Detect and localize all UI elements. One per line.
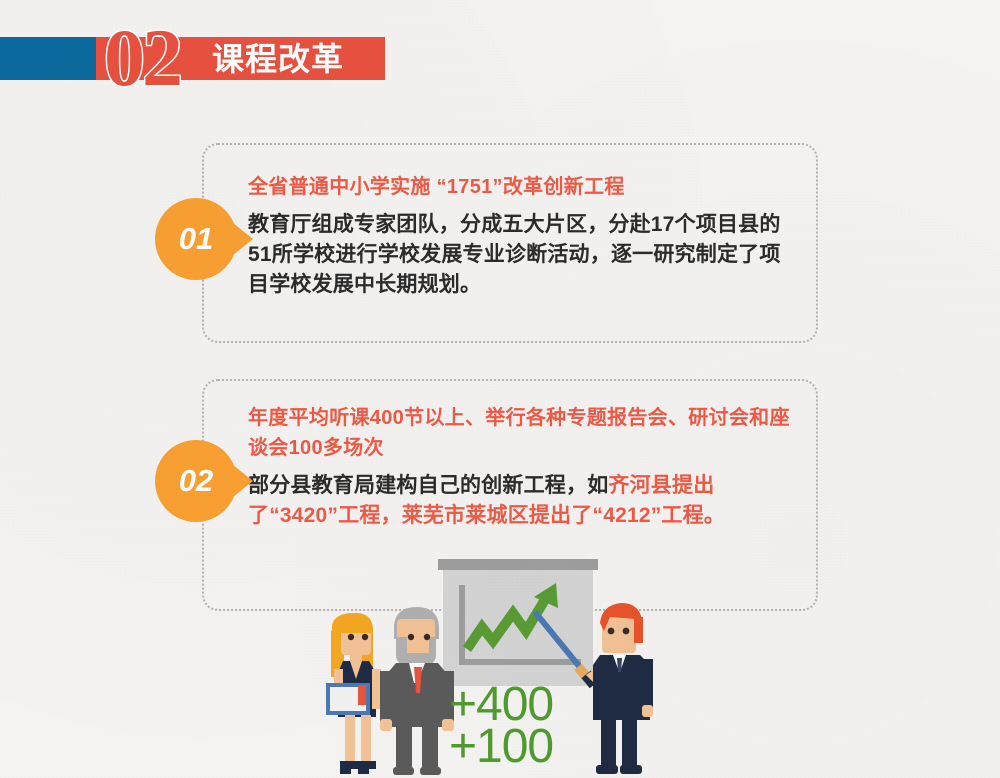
header-section-title: 课程改革 [212,39,344,79]
stat-block: +400 +100 [449,684,553,768]
badge-01-label: 01 [179,221,213,257]
woman-with-clipboard [326,613,381,774]
content-box-02-text-plain: 部分县教育局建构自己的创新工程，如 [248,474,608,497]
header-section-number: 02 [104,17,180,99]
badge-01: 01 [155,198,237,280]
content-box-02-body: 年度平均听课400节以上、举行各种专题报告会、研讨会和座谈会100多场次 部分县… [248,403,796,531]
content-box-01-heading: 全省普通中小学实施 “1751”改革创新工程 [248,172,796,202]
content-box-02-text: 部分县教育局建构自己的创新工程，如齐河县提出了“3420”工程，莱芜市莱城区提出… [248,471,796,531]
clipboard [326,683,370,715]
section-header: 02 课程改革 [0,37,385,80]
content-box-01-body: 全省普通中小学实施 “1751”改革创新工程 教育厅组成专家团队，分成五大片区，… [248,172,796,300]
content-box-01-text: 教育厅组成专家团队，分成五大片区，分赴17个项目县的51所学校进行学校发展专业诊… [248,210,796,300]
badge-02-label: 02 [179,463,213,499]
presenter-red-hair [586,603,653,774]
presentation-board [438,559,598,686]
badge-02: 02 [155,440,237,522]
older-man-gray-suit [380,607,454,775]
stat-line-100: +100 [449,726,553,768]
header-blue-bar [0,37,96,80]
content-box-02-heading: 年度平均听课400节以上、举行各种专题报告会、研讨会和座谈会100多场次 [248,403,796,463]
